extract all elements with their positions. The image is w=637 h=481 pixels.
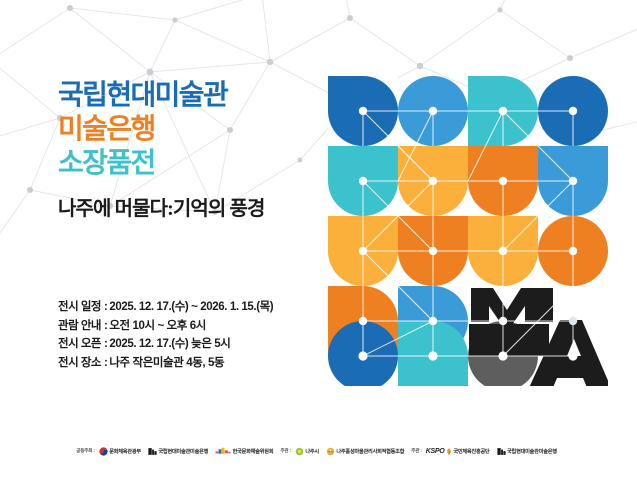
detail-separator: : xyxy=(101,317,109,336)
detail-row-opening: 전시 오픈 : 2025. 12. 17.(수) 늦은 5시 xyxy=(58,335,324,354)
title-line-2: 미술은행 xyxy=(58,112,320,146)
footer-org-name: 국립현대미술관미술은행 xyxy=(507,448,557,455)
footer-org-name: 나주홀성마을관리사회적협동조합 xyxy=(336,448,404,455)
title-line-1: 국립현대미술관 xyxy=(58,78,320,112)
detail-row-schedule: 전시 일정 : 2025. 12. 17.(수) ~ 2026. 1. 15.(… xyxy=(58,298,324,317)
detail-row-venue: 전시 장소 : 나주 작은미술관 4동, 5동 xyxy=(58,354,324,373)
exhibition-poster: 국립현대미술관 미술은행 소장품전 나주에 머물다:기억의 풍경 전시 일정 :… xyxy=(0,0,637,481)
footer-org-mmca-bank-2: 국립현대미술관미술은행 xyxy=(497,447,557,456)
detail-value: 2025. 12. 17.(수) ~ 2026. 1. 15.(목) xyxy=(109,298,273,317)
detail-label: 전시 오픈 xyxy=(58,335,101,354)
detail-separator: : xyxy=(101,298,109,317)
footer-org-coop: 나주홀성마을관리사회적협동조합 xyxy=(326,447,404,456)
footer-org-mmca-bank: 국립현대미술관미술은행 xyxy=(148,447,208,456)
poster-subtitle: 나주에 머물다:기억의 풍경 xyxy=(58,197,320,221)
mmca-logo-grid-graphic xyxy=(328,76,608,386)
footer-org-naju: 나주시 xyxy=(295,447,319,456)
detail-value: 2025. 12. 17.(수) 늦은 5시 xyxy=(109,335,230,354)
taegeuk-icon xyxy=(99,447,108,456)
footer-org-name: 나주시 xyxy=(305,448,319,455)
footer-role-cohost: 공동주최 : xyxy=(76,448,95,454)
poster-title-block: 국립현대미술관 미술은행 소장품전 나주에 머물다:기억의 풍경 xyxy=(58,78,320,221)
naju-city-icon xyxy=(295,447,304,456)
exhibition-details-list: 전시 일정 : 2025. 12. 17.(수) ~ 2026. 1. 15.(… xyxy=(58,298,324,372)
detail-separator: : xyxy=(101,354,109,373)
footer-org-name: 문화체육관광부 xyxy=(109,448,141,455)
kspo-wordmark: KSPO xyxy=(426,448,445,455)
footer-org-name: 국민체육진흥공단 xyxy=(453,448,489,455)
detail-label: 전시 일정 xyxy=(58,298,101,317)
detail-separator: : xyxy=(101,335,109,354)
footer-org-arko: 한국문화예술위원회 xyxy=(215,447,273,456)
mmca-icon xyxy=(497,447,506,456)
detail-row-hours: 관람 안내 : 오전 10시 ~ 오후 6시 xyxy=(58,317,324,336)
footer-role-manage-2: 주관 : xyxy=(411,448,421,454)
detail-value: 나주 작은미술관 4동, 5동 xyxy=(109,354,224,373)
kspo-flame-icon xyxy=(446,448,452,455)
footer-org-kspo: KSPO 국민체육진흥공단 xyxy=(426,448,490,455)
detail-label: 관람 안내 xyxy=(58,317,101,336)
arko-icon xyxy=(215,447,231,456)
footer-org-name: 국립현대미술관미술은행 xyxy=(158,448,208,455)
footer-role-manage: 주관 : xyxy=(280,448,290,454)
detail-label: 전시 장소 xyxy=(58,354,101,373)
coop-icon xyxy=(326,447,335,456)
title-line-3: 소장품전 xyxy=(58,146,320,180)
mmca-icon xyxy=(148,447,157,456)
detail-value: 오전 10시 ~ 오후 6시 xyxy=(109,317,206,336)
footer-org-name: 한국문화예술위원회 xyxy=(233,448,274,455)
footer-sponsor-bar: 공동주최 : 문화체육관광부 국립현대미술관미술은행 xyxy=(0,440,637,462)
footer-org-mcst: 문화체육관광부 xyxy=(99,447,141,456)
